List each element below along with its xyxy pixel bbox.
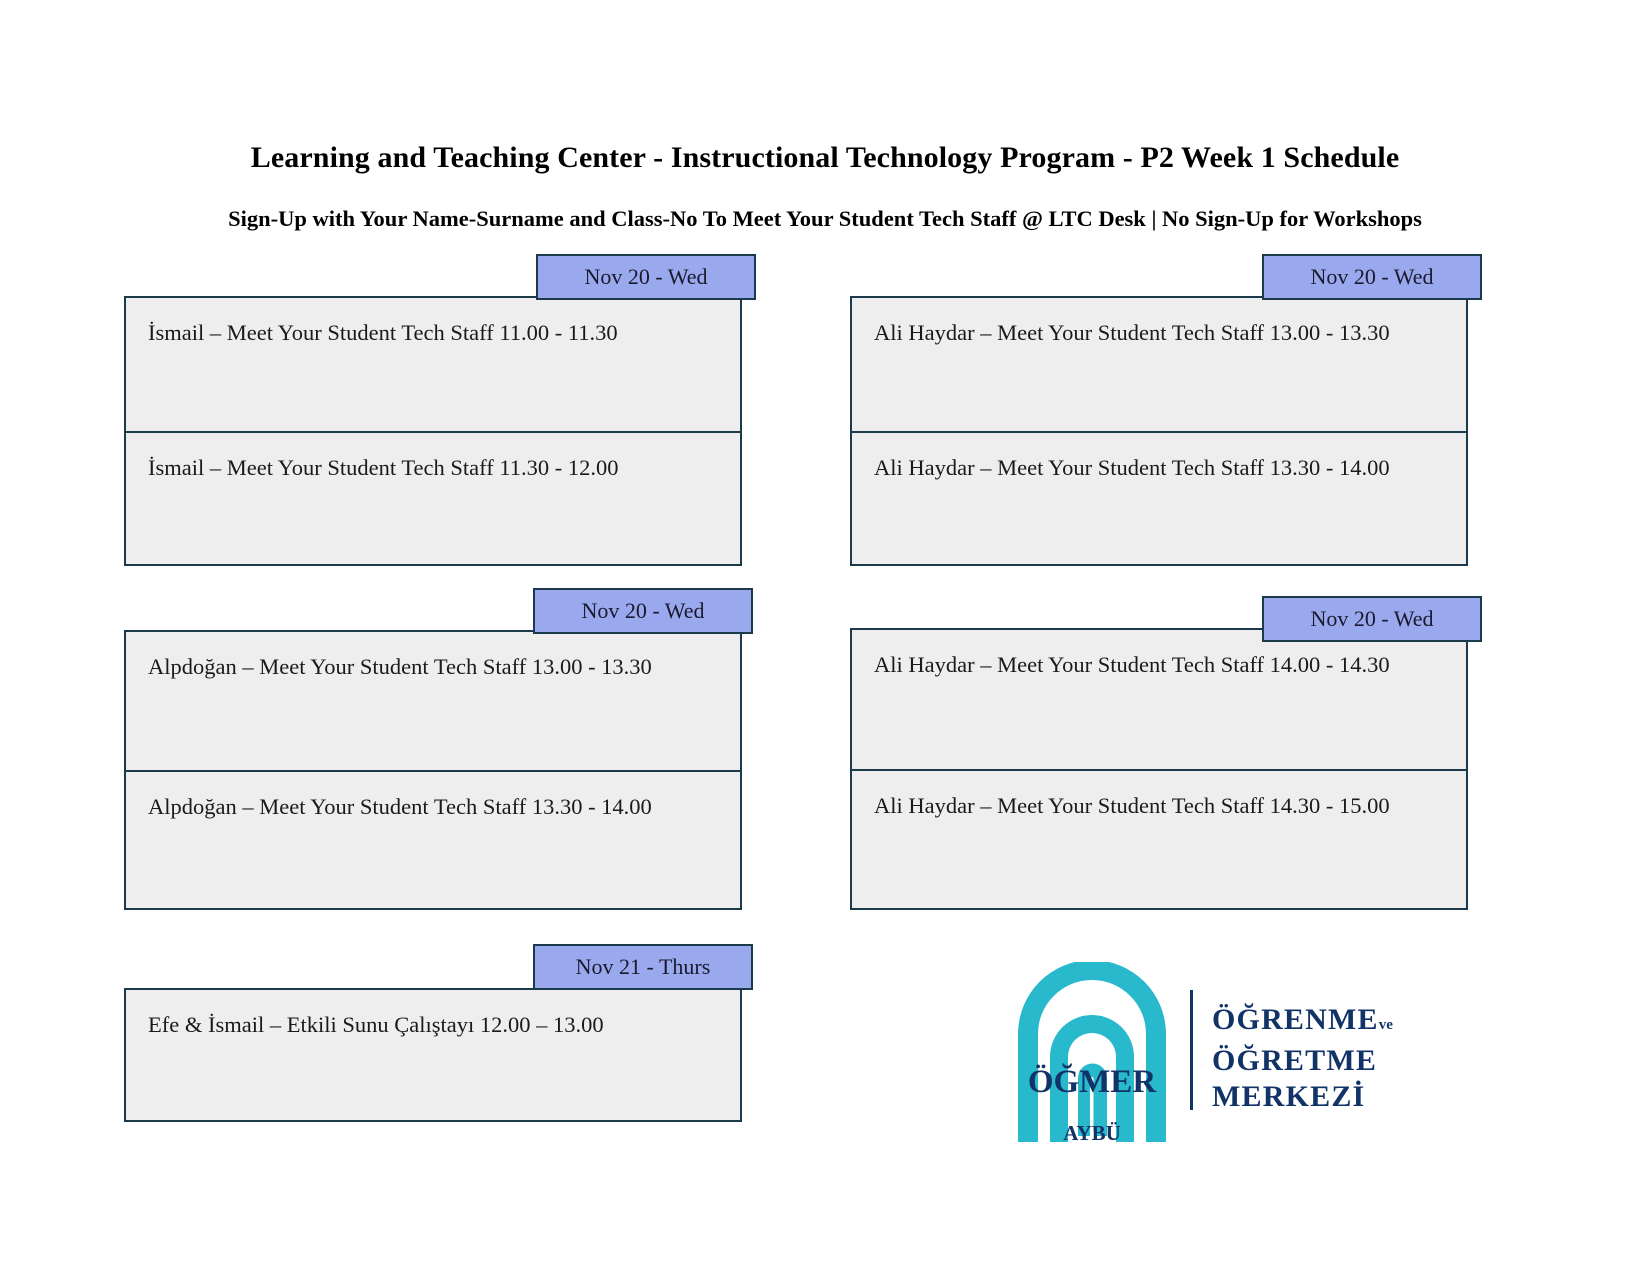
date-tab-0: Nov 20 - Wed (536, 254, 756, 300)
logo-line-1-suffix: ve (1379, 1017, 1393, 1033)
schedule-card-2: Alpdoğan – Meet Your Student Tech Staff … (124, 630, 742, 910)
schedule-row: Ali Haydar – Meet Your Student Tech Staf… (852, 298, 1466, 431)
aybu-wordmark: AYBÜ (1063, 1121, 1121, 1142)
date-tab-3: Nov 20 - Wed (1262, 596, 1482, 642)
schedule-card-0: İsmail – Meet Your Student Tech Staff 11… (124, 296, 742, 566)
page-title: Learning and Teaching Center - Instructi… (0, 140, 1650, 176)
logo-line-2: ÖĞRETME (1212, 1043, 1393, 1079)
schedule-row: Efe & İsmail – Etkili Sunu Çalıştayı 12.… (126, 990, 740, 1120)
schedule-row: Ali Haydar – Meet Your Student Tech Staf… (852, 630, 1466, 769)
schedule-row: Alpdoğan – Meet Your Student Tech Staff … (126, 770, 740, 908)
date-tab-1: Nov 20 - Wed (1262, 254, 1482, 300)
page-subtitle: Sign-Up with Your Name-Surname and Class… (0, 205, 1650, 232)
logo-divider (1190, 990, 1193, 1110)
schedule-row: Alpdoğan – Meet Your Student Tech Staff … (126, 632, 740, 770)
schedule-row: Ali Haydar – Meet Your Student Tech Staf… (852, 431, 1466, 564)
schedule-card-3: Ali Haydar – Meet Your Student Tech Staf… (850, 628, 1468, 910)
schedule-row: Ali Haydar – Meet Your Student Tech Staf… (852, 769, 1466, 908)
header-block: Learning and Teaching Center - Instructi… (0, 140, 1650, 232)
logo-line-3: MERKEZİ (1212, 1079, 1393, 1115)
ogmer-logo: ÖĞMER AYBÜ ÖĞRENMEve ÖĞRETME MERKEZİ (1000, 962, 1400, 1142)
ogmer-wordmark: ÖĞMER (1028, 1062, 1157, 1100)
schedule-row: İsmail – Meet Your Student Tech Staff 11… (126, 431, 740, 564)
schedule-card-4: Efe & İsmail – Etkili Sunu Çalıştayı 12.… (124, 988, 742, 1122)
date-tab-4: Nov 21 - Thurs (533, 944, 753, 990)
ogmer-arch-icon: ÖĞMER AYBÜ (1000, 962, 1185, 1142)
date-tab-2: Nov 20 - Wed (533, 588, 753, 634)
logo-line-1: ÖĞRENMEve (1212, 1002, 1393, 1043)
schedule-row: İsmail – Meet Your Student Tech Staff 11… (126, 298, 740, 431)
logo-text-block: ÖĞRENMEve ÖĞRETME MERKEZİ (1212, 1002, 1393, 1115)
schedule-card-1: Ali Haydar – Meet Your Student Tech Staf… (850, 296, 1468, 566)
